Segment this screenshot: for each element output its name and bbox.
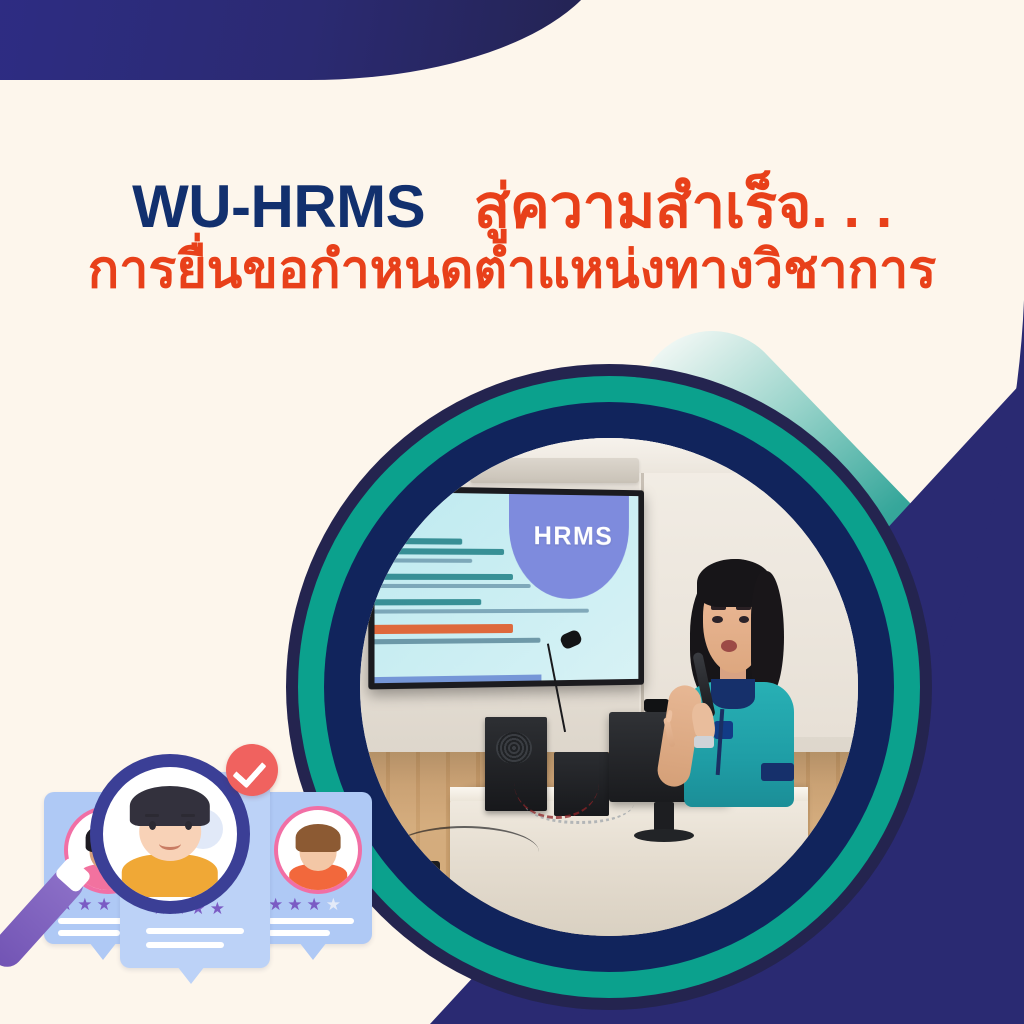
shirt-logo <box>714 721 733 739</box>
check-badge <box>226 744 278 796</box>
slide-bullet-lines <box>374 537 598 644</box>
headline-line-1: WU-HRMS สู่ความสำเร็จ. . . <box>0 176 1024 237</box>
candidate-card-right[interactable]: ★★★★ <box>254 792 372 944</box>
photo-circle-teal-ring: HRMS <box>298 376 920 998</box>
wristwatch <box>694 736 713 748</box>
headline-tagline: สู่ความสำเร็จ. . . <box>474 173 892 240</box>
presenter-figure <box>669 548 818 847</box>
photo-circle-inner-ring: HRMS <box>324 402 894 972</box>
floor-power-box <box>400 861 440 881</box>
photo-circle-outer-ring: HRMS <box>286 364 932 1010</box>
webcam <box>644 699 669 712</box>
projector-screen: HRMS <box>368 485 644 689</box>
air-conditioner <box>470 458 639 483</box>
headline-block: WU-HRMS สู่ความสำเร็จ. . . การยื่นขอกำหน… <box>0 176 1024 298</box>
avatar <box>274 806 362 894</box>
magnifier-lens <box>90 754 250 914</box>
magnifying-glass[interactable] <box>90 754 250 914</box>
headline-subtitle: การยื่นขอกำหนดตำแหน่งทางวิชาการ <box>0 243 1024 298</box>
rating-stars: ★★★★ <box>268 896 341 913</box>
check-icon <box>232 753 266 788</box>
candidate-selection-illustration: ★★★ ★★★★ ★★★★ <box>44 744 374 1016</box>
photo-circle-image: HRMS <box>360 438 858 936</box>
poster-canvas: WU-HRMS สู่ความสำเร็จ. . . การยื่นขอกำหน… <box>0 0 1024 1024</box>
brand-title: WU-HRMS <box>132 173 425 240</box>
